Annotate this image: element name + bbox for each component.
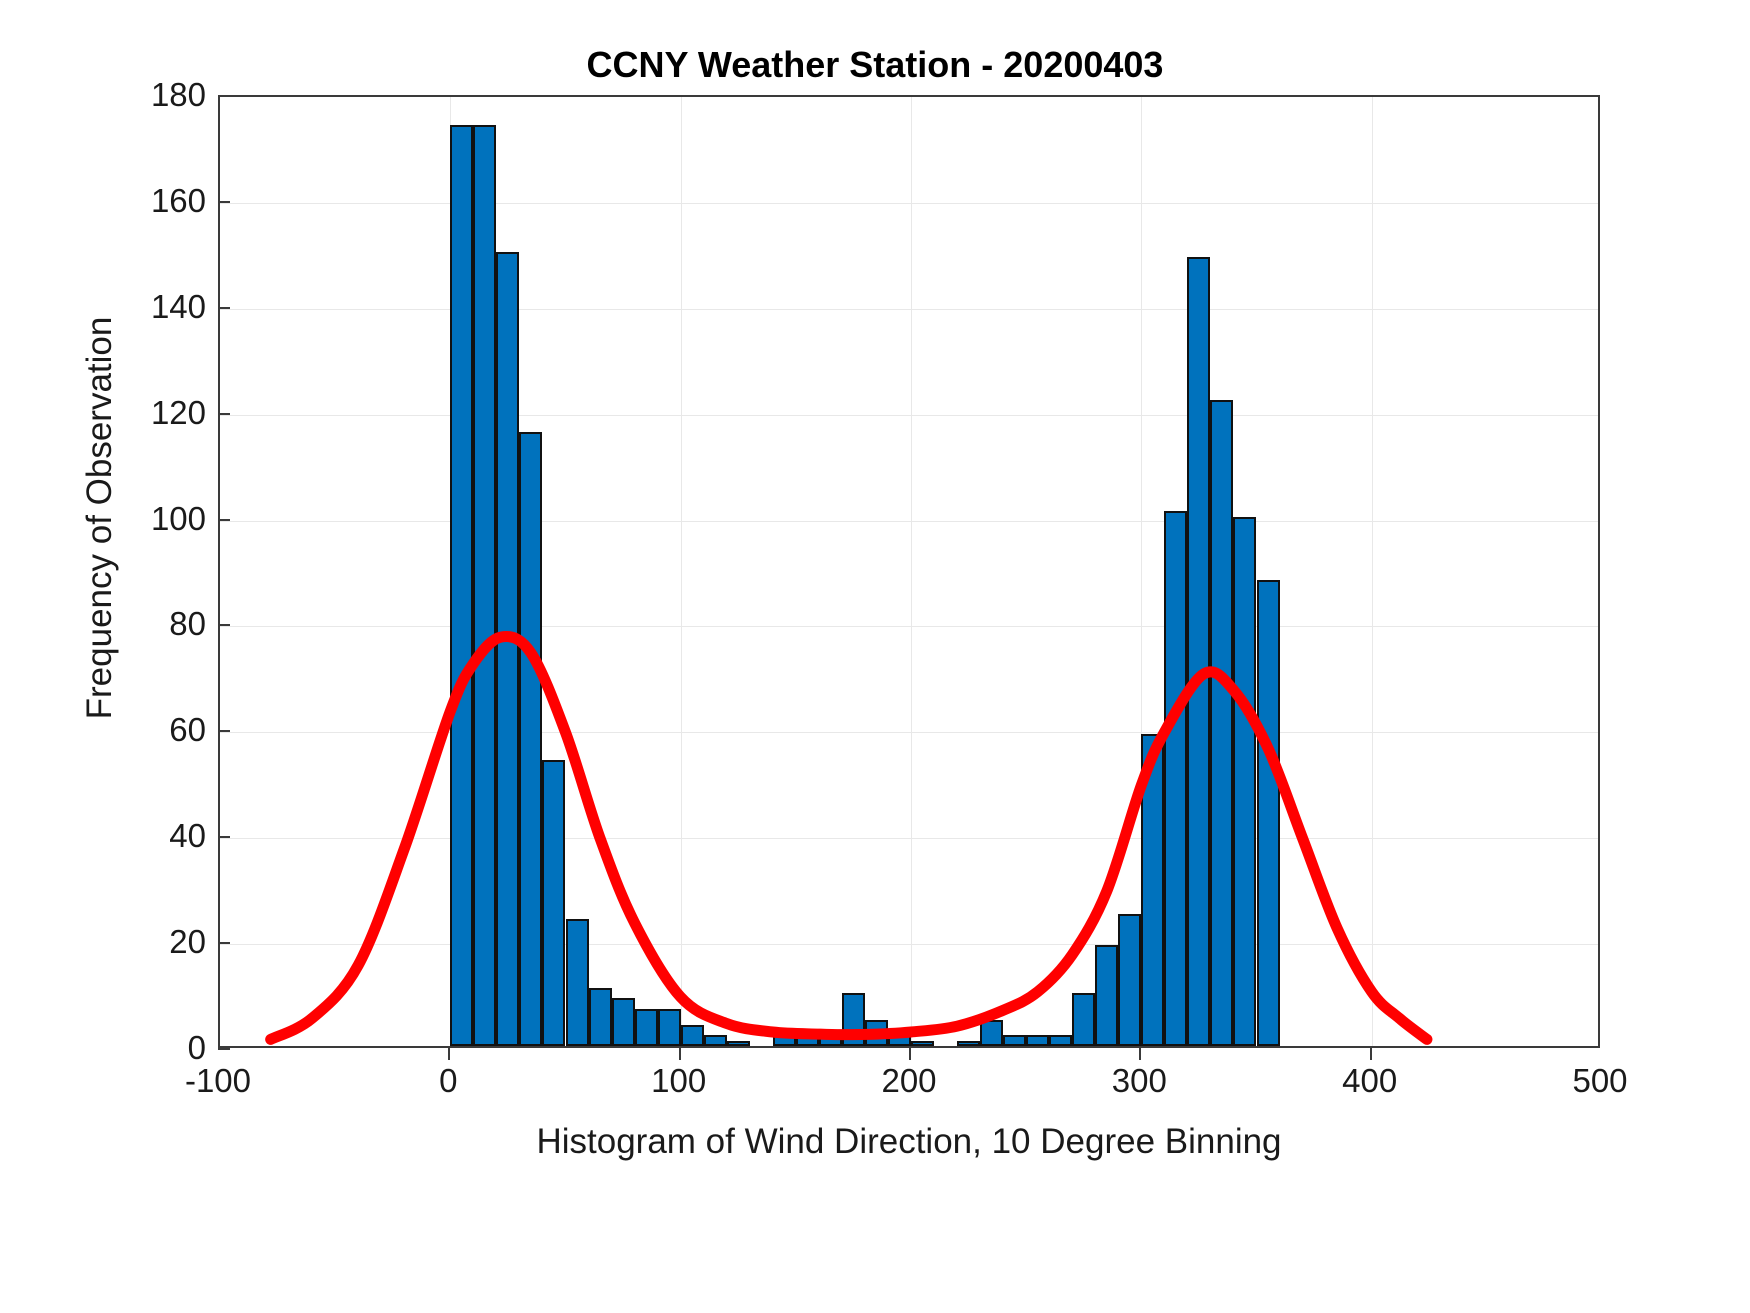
y-tick-label: 80 — [116, 605, 206, 643]
y-tick-mark — [218, 307, 230, 309]
x-tick-label: -100 — [138, 1062, 298, 1100]
x-tick-mark — [1370, 1048, 1372, 1060]
y-axis-tick-labels: 020406080100120140160180 — [110, 95, 206, 1048]
x-tick-label: 300 — [1059, 1062, 1219, 1100]
x-tick-mark — [909, 1048, 911, 1060]
x-axis-tick-labels: -1000100200300400500 — [218, 1062, 1600, 1110]
y-tick-label: 180 — [116, 76, 206, 114]
y-tick-label: 20 — [116, 923, 206, 961]
y-tick-mark — [218, 730, 230, 732]
y-tick-mark — [218, 836, 230, 838]
x-axis-label: Histogram of Wind Direction, 10 Degree B… — [218, 1122, 1600, 1162]
y-tick-label: 40 — [116, 817, 206, 855]
y-tick-mark — [218, 519, 230, 521]
y-tick-label: 160 — [116, 182, 206, 220]
x-tick-mark — [1139, 1048, 1141, 1060]
plot-area — [218, 95, 1600, 1048]
figure-canvas: CCNY Weather Station - 20200403 02040608… — [0, 0, 1750, 1313]
y-tick-mark — [218, 1048, 230, 1050]
x-tick-label: 400 — [1290, 1062, 1450, 1100]
y-axis-label: Frequency of Observation — [80, 118, 120, 918]
y-tick-label: 140 — [116, 288, 206, 326]
fit-curve — [220, 97, 1600, 1048]
y-tick-mark — [218, 942, 230, 944]
chart-title: CCNY Weather Station - 20200403 — [0, 44, 1750, 86]
y-tick-label: 60 — [116, 711, 206, 749]
x-tick-mark — [679, 1048, 681, 1060]
y-tick-mark — [218, 413, 230, 415]
x-tick-label: 200 — [829, 1062, 989, 1100]
y-tick-mark — [218, 95, 230, 97]
x-tick-label: 500 — [1520, 1062, 1680, 1100]
x-tick-label: 0 — [368, 1062, 528, 1100]
y-tick-label: 100 — [116, 500, 206, 538]
y-tick-mark — [218, 624, 230, 626]
y-tick-label: 120 — [116, 394, 206, 432]
x-tick-mark — [448, 1048, 450, 1060]
x-tick-label: 100 — [599, 1062, 759, 1100]
y-tick-mark — [218, 201, 230, 203]
